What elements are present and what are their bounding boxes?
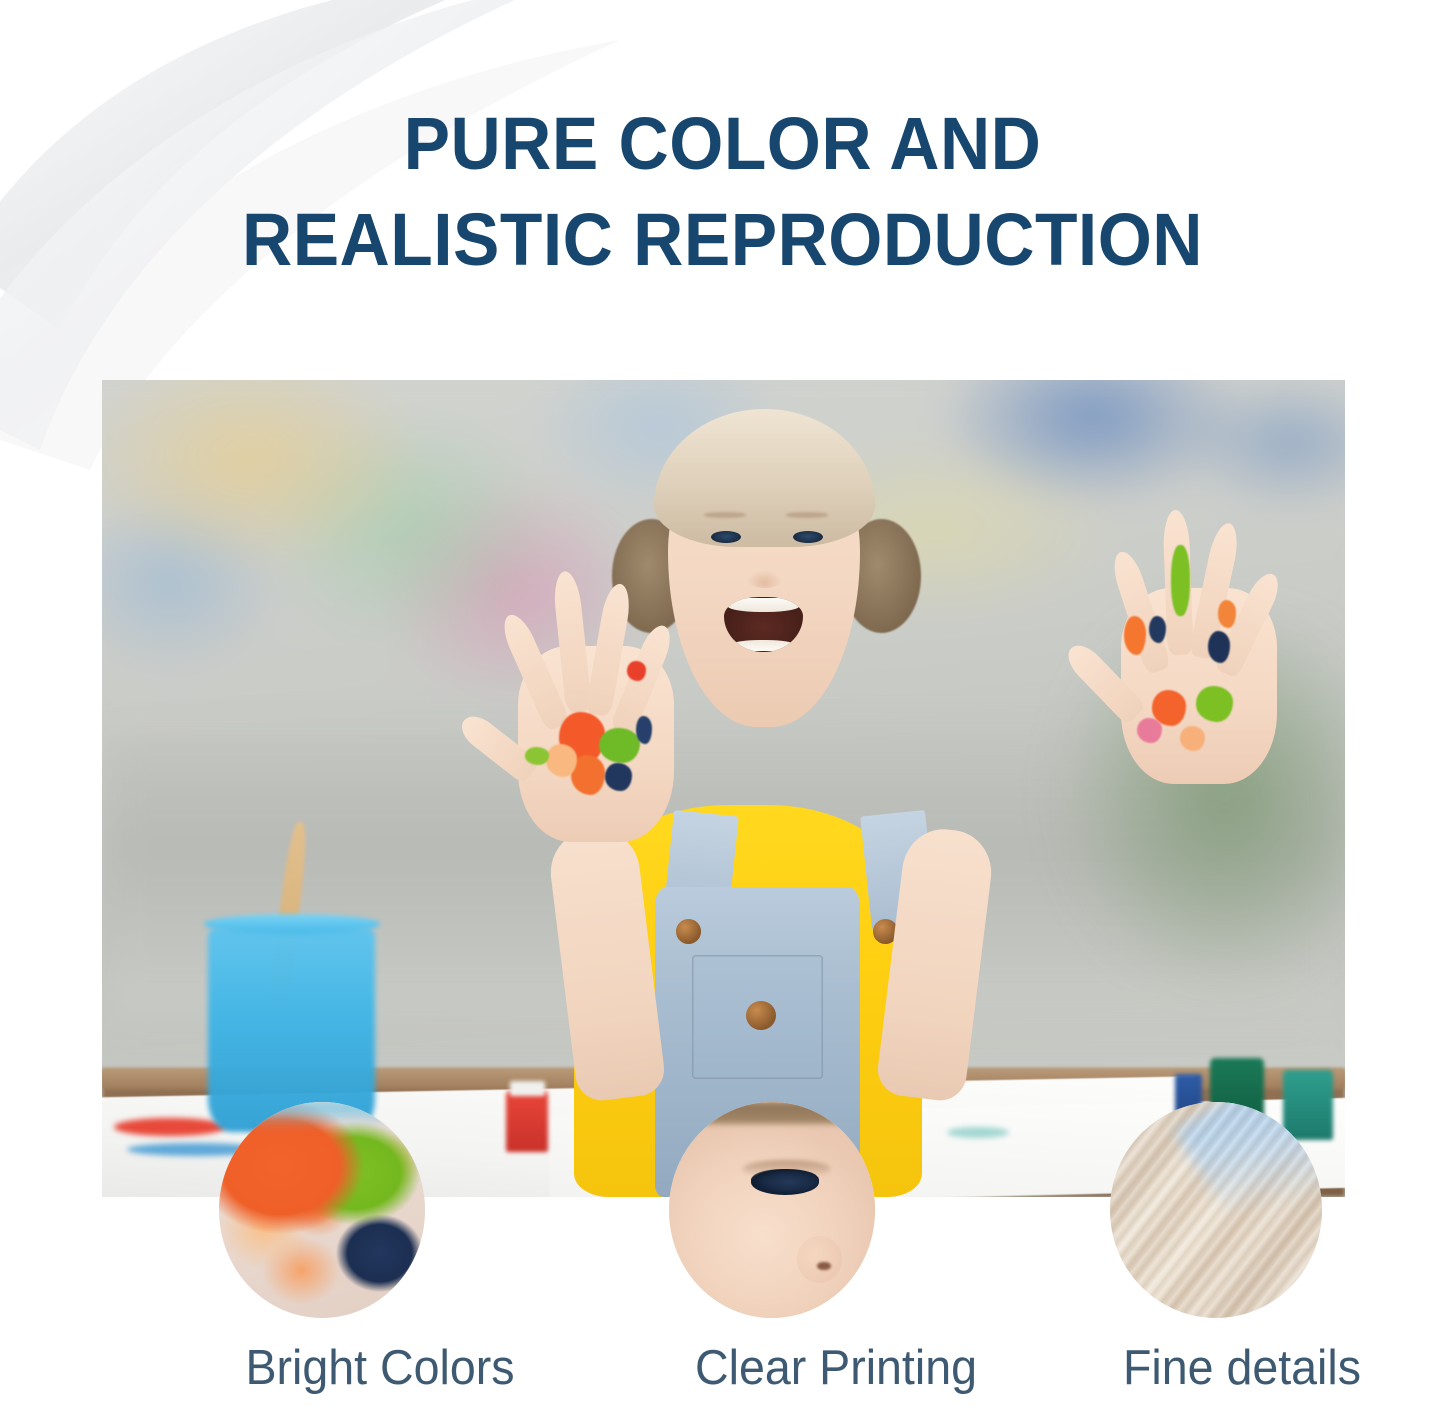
feature-detail-circle-fine-details xyxy=(1110,1102,1322,1318)
cup-edge-highlight xyxy=(219,1102,425,1128)
open-smiling-mouth xyxy=(724,597,804,653)
caption-clear-printing: Clear Printing xyxy=(637,1338,1036,1398)
eye-macro xyxy=(751,1169,819,1195)
paint-blob-green xyxy=(525,747,550,765)
eyebrow-right xyxy=(786,512,828,517)
headline-line-2: REALISTIC REPRODUCTION xyxy=(43,192,1401,288)
face-macro-image xyxy=(669,1102,875,1318)
feature-detail-circle-clear-printing xyxy=(669,1102,875,1318)
paint-blob-peach xyxy=(546,744,577,777)
paint-blob-green xyxy=(599,728,639,763)
overall-button-left xyxy=(676,919,701,944)
right-painted-hand xyxy=(1121,588,1276,784)
paint-blob-navy xyxy=(1149,616,1166,643)
finger xyxy=(1109,548,1173,676)
table-edge-strip xyxy=(669,1102,875,1124)
headline-line-1: PURE COLOR AND xyxy=(43,96,1401,192)
paint-blob-orange xyxy=(1124,616,1146,655)
paint-blob-green xyxy=(1171,545,1190,616)
paint-blob-navy xyxy=(605,763,631,790)
paint-blob-navy xyxy=(1208,631,1230,662)
paint-blob-orange xyxy=(1218,600,1237,627)
paint-blob-navy xyxy=(636,716,652,743)
hair-strands xyxy=(1110,1102,1322,1318)
child-subject xyxy=(102,380,1345,1197)
paint-blob-green xyxy=(1196,686,1233,721)
overall-pocket-button xyxy=(746,1001,776,1030)
feature-captions: Bright Colors Clear Printing Fine detail… xyxy=(0,1338,1445,1398)
eyebrow-left xyxy=(704,512,746,517)
page-title: PURE COLOR AND REALISTIC REPRODUCTION xyxy=(0,96,1445,288)
blonde-hair xyxy=(654,409,875,548)
paint-blob-red xyxy=(627,661,646,681)
left-painted-hand xyxy=(518,646,673,842)
paint-macro-image xyxy=(219,1102,425,1318)
upper-teeth xyxy=(727,598,800,612)
lower-teeth xyxy=(731,640,795,651)
caption-fine-details: Fine details xyxy=(1062,1338,1423,1398)
finger xyxy=(456,710,541,785)
nose-macro xyxy=(797,1236,842,1284)
caption-bright-colors: Bright Colors xyxy=(152,1338,608,1398)
paint-blob-peach xyxy=(1180,726,1205,751)
hero-photo xyxy=(102,380,1345,1197)
paint-blob-pink xyxy=(1137,718,1162,743)
feature-detail-circle-bright-colors xyxy=(219,1102,425,1318)
